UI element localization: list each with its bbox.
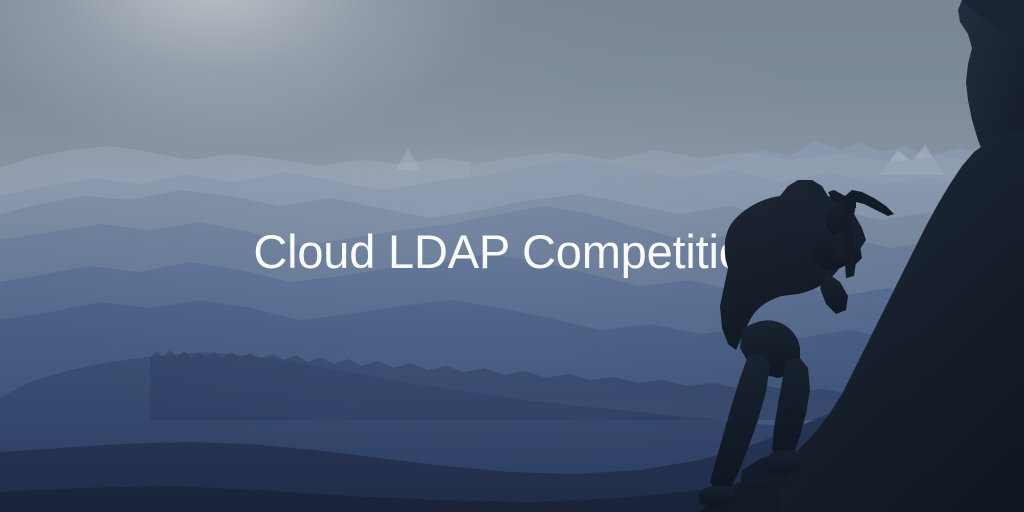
page-title: Cloud LDAP Competition <box>253 228 770 275</box>
hero-title-container: Cloud LDAP Competition <box>0 0 1024 512</box>
hero-banner: Cloud LDAP Competition <box>0 0 1024 512</box>
